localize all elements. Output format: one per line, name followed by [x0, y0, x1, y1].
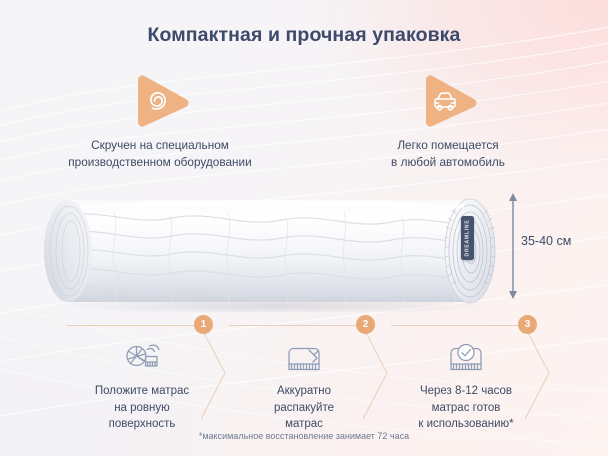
steps-row: 1 Положите матрас на ровную поверхность [0, 322, 608, 433]
step-divider-rule [391, 325, 519, 326]
step-divider-rule [229, 325, 357, 326]
vertical-double-arrow-icon [506, 192, 520, 300]
step-number-badge: 1 [194, 315, 213, 334]
dimension-label: 35-40 см [521, 234, 571, 248]
step-label: Через 8-12 часов матрас готов к использо… [418, 383, 513, 433]
feature-item-car: Легко помещается в любой автомобиль [332, 74, 564, 171]
step-item-1: 1 Положите матрас на ровную поверхность [61, 322, 223, 433]
unpack-mattress-icon [283, 340, 325, 376]
page-title: Компактная и прочная упаковка [0, 24, 608, 47]
rolled-mattress-icon [121, 340, 163, 376]
step-divider-rule [67, 325, 195, 326]
packaging-infographic: Компактная и прочная упаковка Скручен на… [0, 0, 608, 456]
car-icon [417, 74, 479, 128]
feature-label: Скручен на специальном производственном … [68, 137, 251, 171]
step-number-badge: 2 [356, 315, 375, 334]
brand-tag: DREAMLINE [461, 216, 474, 260]
step-label: Положите матрас на ровную поверхность [95, 383, 189, 433]
rolled-mattress-illustration: DREAMLINE [42, 190, 512, 312]
step-item-2: 2 Аккуратно распакуйте матрас [223, 322, 385, 433]
step-label: Аккуратно распакуйте матрас [274, 383, 334, 433]
footnote: *максимальное восстановление занимает 72… [0, 431, 608, 441]
mattress-ready-check-icon [445, 340, 487, 376]
step-item-3: 3 Через 8-12 часов матрас готов к исполь… [385, 322, 547, 433]
spiral-roll-icon [129, 74, 191, 128]
features-row: Скручен на специальном производственном … [0, 74, 608, 171]
step-number-badge: 3 [518, 315, 537, 334]
brand-tag-label: DREAMLINE [465, 220, 471, 257]
feature-item-spiral: Скручен на специальном производственном … [44, 74, 276, 171]
step-chevron-divider [519, 325, 553, 421]
feature-label: Легко помещается в любой автомобиль [391, 137, 505, 171]
